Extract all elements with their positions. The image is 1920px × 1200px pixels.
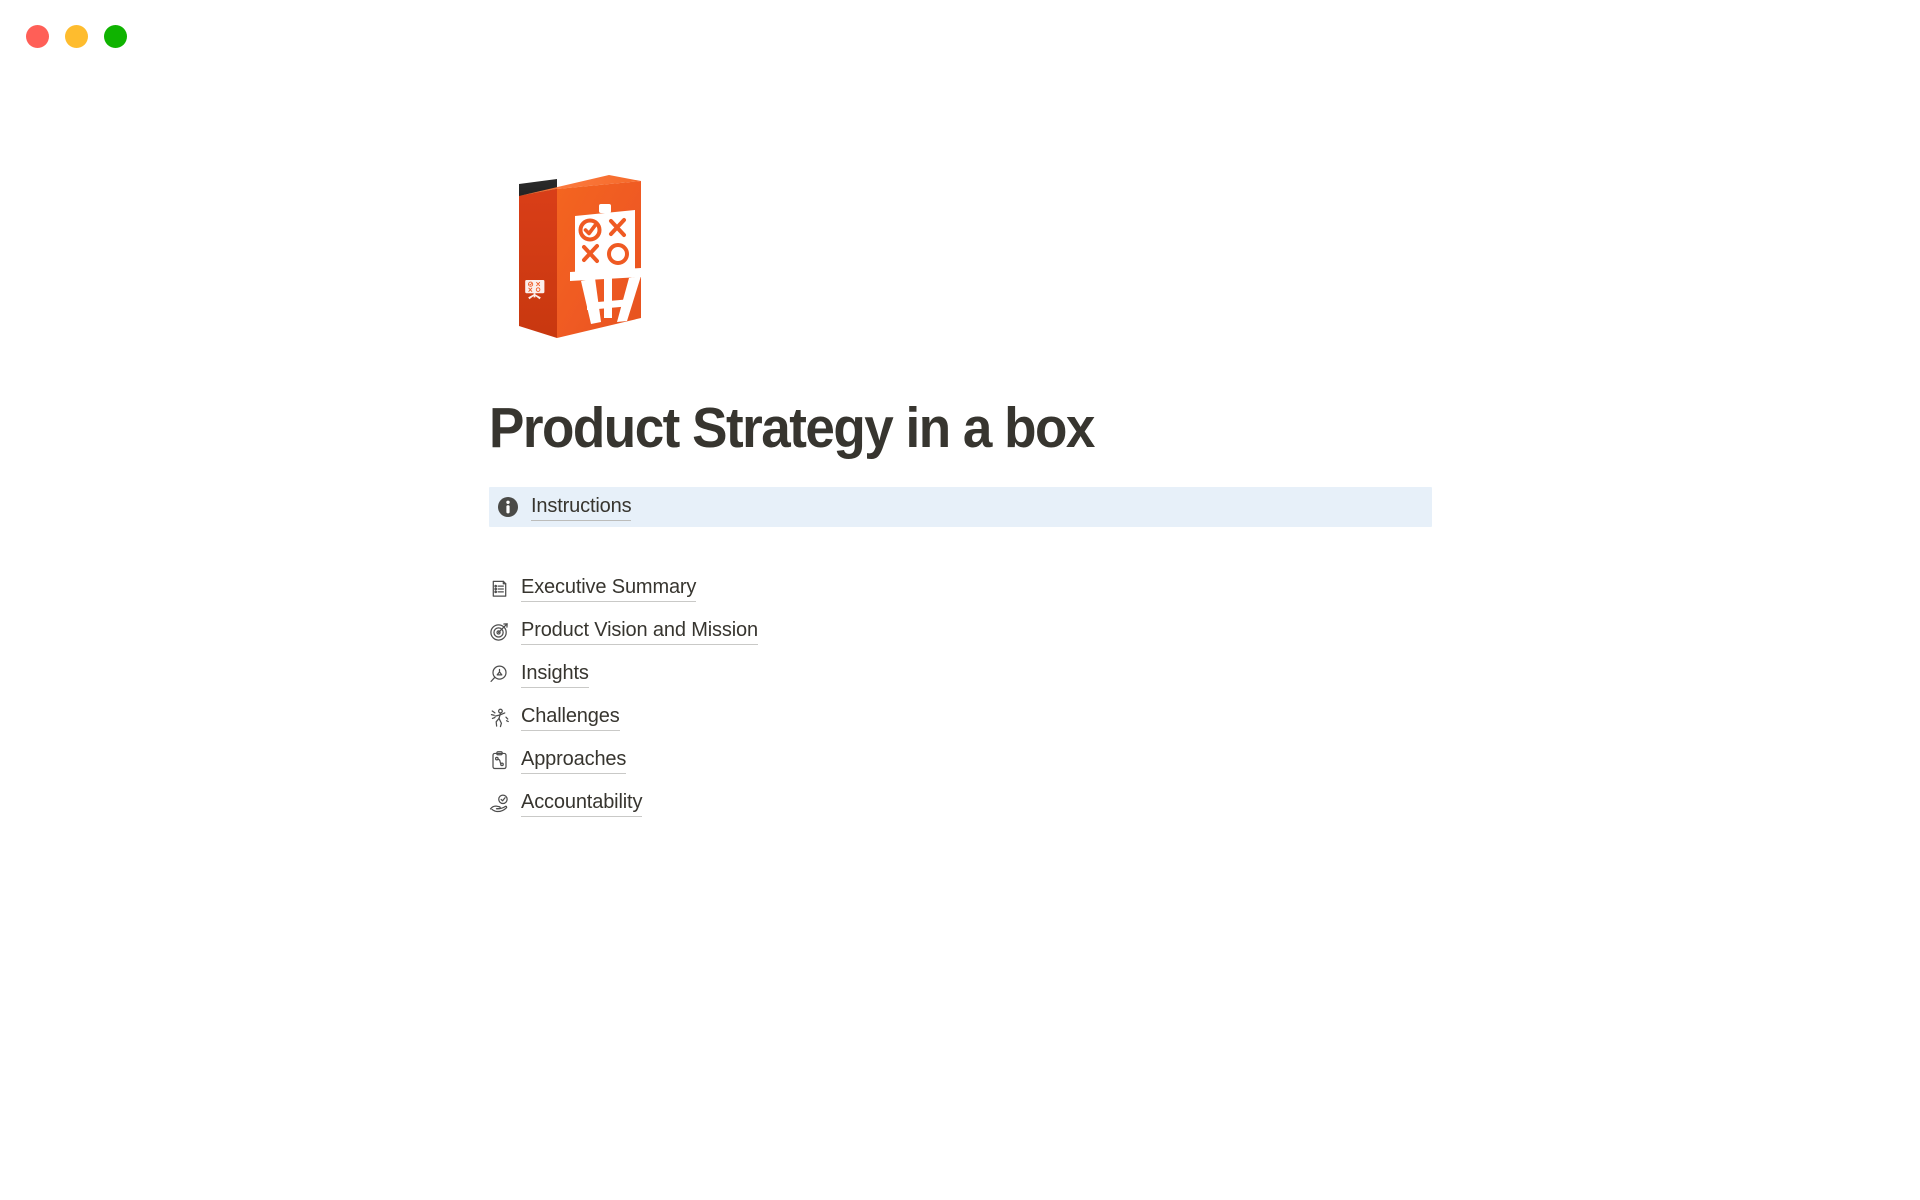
instructions-link[interactable]: Instructions (531, 494, 631, 521)
instructions-callout[interactable]: Instructions (489, 487, 1432, 527)
page-link-list: Executive Summary Product Vision and Mis… (489, 567, 1439, 825)
list-item[interactable]: Challenges (489, 696, 1439, 739)
magnifying-glass-icon (489, 664, 510, 685)
list-item-label[interactable]: Approaches (521, 747, 626, 774)
hand-check-icon (489, 793, 510, 814)
clipboard-route-icon (489, 750, 510, 771)
list-item[interactable]: Executive Summary (489, 567, 1439, 610)
info-icon (497, 496, 519, 518)
list-item[interactable]: Insights (489, 653, 1439, 696)
page-title: Product Strategy in a box (489, 397, 1419, 461)
list-item-label[interactable]: Executive Summary (521, 575, 696, 602)
dart-target-icon (489, 621, 510, 642)
list-item-label[interactable]: Insights (521, 661, 589, 688)
list-item-label[interactable]: Accountability (521, 790, 642, 817)
list-item-label[interactable]: Challenges (521, 704, 620, 731)
list-item[interactable]: Approaches (489, 739, 1439, 782)
product-strategy-box-icon[interactable] (513, 168, 663, 348)
list-item[interactable]: Product Vision and Mission (489, 610, 1439, 653)
list-item[interactable]: Accountability (489, 782, 1439, 825)
clipboard-list-icon (489, 578, 510, 599)
list-item-label[interactable]: Product Vision and Mission (521, 618, 758, 645)
document-page: Product Strategy in a box Instructions (0, 0, 1920, 1200)
climber-icon (489, 707, 510, 728)
